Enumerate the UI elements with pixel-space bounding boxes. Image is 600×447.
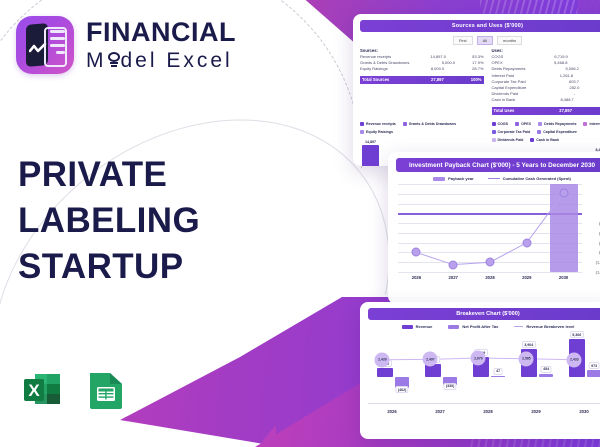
npat-value-label: 973 bbox=[589, 362, 600, 369]
microsoft-excel-icon: X bbox=[20, 368, 64, 412]
brand-lockup: FINANCIAL M del Excel bbox=[16, 16, 236, 74]
supported-apps: X bbox=[20, 368, 126, 412]
legend-cumulative-cash: Cumulative Cash Generated (Spent) bbox=[488, 176, 571, 181]
bar-group: 14,897 bbox=[362, 140, 379, 167]
legend-swatch bbox=[492, 130, 496, 134]
cover-canvas: FINANCIAL M del Excel PRIVATE LABELING S… bbox=[0, 0, 600, 447]
bar-group: 1,848(330)2,497 bbox=[416, 331, 464, 403]
legend-item: Capital Expenditure bbox=[537, 130, 577, 134]
bar bbox=[362, 145, 379, 167]
payback-x-axis: 20262027202820292030 bbox=[398, 275, 582, 280]
legend-swatch-line bbox=[488, 178, 500, 180]
npat-value-label: (330) bbox=[443, 383, 456, 390]
legend-swatch bbox=[360, 130, 364, 134]
bar-value-label: 8,489 bbox=[596, 148, 600, 152]
legend-label-payback-year: Payback year bbox=[448, 176, 474, 181]
legend-swatch bbox=[403, 122, 407, 126]
legend-label: Equity Raisings bbox=[366, 130, 393, 134]
legend-label: Capital Expenditure bbox=[543, 130, 577, 134]
table-row: Cash in Bank8,488.730.1% bbox=[492, 97, 600, 103]
revenue-value-label: 3,904 bbox=[522, 341, 536, 348]
breakeven-chart-title: Breakeven Chart ($'000) bbox=[368, 308, 600, 320]
financial-model-app-icon bbox=[16, 16, 74, 74]
npat-bar bbox=[491, 376, 505, 378]
sources-rows: Revenue receipts14,897.053.3%Grants & De… bbox=[360, 54, 484, 73]
legend-label: COGS bbox=[498, 122, 509, 126]
row-value: 8,000.0 bbox=[402, 66, 444, 72]
legend-swatch bbox=[530, 138, 534, 142]
tab-all[interactable]: All bbox=[477, 36, 493, 45]
legend-label: OPEX bbox=[521, 122, 531, 126]
x-axis-tick-label: 2029 bbox=[508, 275, 545, 280]
x-axis-tick-label: 2027 bbox=[435, 275, 472, 280]
brand-name-secondary: M del Excel bbox=[86, 50, 236, 71]
npat-value-label: (462) bbox=[395, 386, 408, 393]
legend-item: Interest Paid bbox=[583, 122, 600, 126]
npat-bar bbox=[587, 370, 600, 377]
row-percent: 28.7% bbox=[459, 66, 484, 72]
legend-swatch bbox=[537, 130, 541, 134]
breakeven-axis-line bbox=[368, 403, 600, 404]
legend-label-revenue: Revenue bbox=[416, 324, 433, 329]
sources-total-pct: 100% bbox=[458, 77, 482, 82]
page-title: PRIVATE LABELING STARTUP bbox=[18, 152, 200, 291]
breakeven-bubble: 2,433 bbox=[567, 352, 582, 367]
payback-plot-area: 600400200-(200)(400)(600)(800)(1,000)(1,… bbox=[398, 184, 582, 272]
legend-breakeven-level: Revenue Breakeven level bbox=[514, 324, 574, 329]
breakeven-plot-area: 1,240(462)2,4391,848(330)2,4972,819472,6… bbox=[368, 331, 600, 403]
legend-label: Revenue receipts bbox=[366, 122, 396, 126]
breakeven-bubble: 2,585 bbox=[519, 351, 534, 366]
legend-label: Interest Paid bbox=[589, 122, 600, 126]
legend-swatch bbox=[583, 122, 587, 126]
x-axis-tick-label: 2028 bbox=[464, 409, 512, 414]
legend-label: Debts Repayments bbox=[544, 122, 576, 126]
npat-value-label: 47 bbox=[494, 368, 503, 375]
y-axis-tick-label: - bbox=[584, 211, 600, 216]
sources-uses-columns: Sources: Revenue receipts14,897.053.3%Gr… bbox=[360, 48, 600, 115]
bar-value-label: 14,897 bbox=[365, 140, 376, 144]
brand-sub-prefix: M bbox=[86, 50, 107, 71]
x-axis-tick-label: 2030 bbox=[545, 275, 582, 280]
breakeven-x-axis: 20262027202820292030 bbox=[368, 409, 600, 414]
uses-rows: COGS6,719.924.1%OPEX5,468.819.6%Debts Re… bbox=[492, 54, 600, 104]
investment-payback-panel[interactable]: Investment Payback Chart ($'000) - 5 Yea… bbox=[388, 152, 600, 304]
lightbulb-o-icon bbox=[107, 52, 121, 70]
legend-item: Equity Raisings bbox=[360, 130, 393, 134]
table-row: Equity Raisings8,000.028.7% bbox=[360, 66, 484, 72]
breakeven-bubble: 2,439 bbox=[375, 352, 390, 367]
y-axis-tick-label: 400 bbox=[584, 191, 600, 196]
sources-chart-legend: Revenue receiptsGrants & Debts Drawdowns… bbox=[360, 122, 484, 134]
breakeven-legend: Revenue Net Profit After Tax Revenue Bre… bbox=[368, 324, 600, 329]
legend-label: Corporate Tax Paid bbox=[498, 130, 531, 134]
legend-item: Revenue receipts bbox=[360, 122, 396, 126]
sheets-svg bbox=[86, 368, 126, 412]
row-percent: 30.1% bbox=[590, 97, 600, 103]
uses-total-pct: 100% bbox=[589, 108, 600, 113]
y-axis-tick-label: (400) bbox=[584, 230, 600, 235]
excel-svg: X bbox=[20, 368, 64, 412]
legend-item: Cash in Bank bbox=[530, 138, 559, 142]
legend-npat: Net Profit After Tax bbox=[448, 324, 498, 329]
row-label: Cash in Bank bbox=[492, 97, 516, 103]
y-axis-tick-label: 200 bbox=[584, 201, 600, 206]
row-label: Equity Raisings bbox=[360, 66, 388, 72]
legend-swatch bbox=[492, 138, 496, 142]
data-point bbox=[486, 258, 495, 267]
legend-swatch bbox=[538, 122, 542, 126]
legend-item: Dividends Paid bbox=[492, 138, 524, 142]
legend-swatch-band bbox=[433, 177, 445, 181]
sources-total-value: 27,897 bbox=[403, 77, 444, 82]
revenue-bar bbox=[377, 368, 393, 377]
row-value: 8,488.7 bbox=[532, 97, 574, 103]
breakeven-bubble: 2,497 bbox=[423, 352, 438, 367]
gridline bbox=[398, 272, 582, 273]
legend-label: Cash in Bank bbox=[536, 138, 559, 142]
brand-name-primary: FINANCIAL bbox=[86, 19, 236, 46]
bar-group: 5,3669732,433 bbox=[560, 331, 600, 403]
bar-group: 2,819472,676 bbox=[464, 331, 512, 403]
svg-text:X: X bbox=[28, 381, 40, 400]
small-triangle-accent bbox=[262, 425, 276, 441]
logo-text-lines-icon bbox=[50, 30, 65, 54]
bar-group: 3,9044542,585 bbox=[512, 331, 560, 403]
y-axis-tick-label: (1,000) bbox=[584, 260, 600, 265]
legend-swatch-npat bbox=[448, 325, 459, 329]
tab-months[interactable]: months bbox=[497, 36, 522, 45]
breakeven-bubble: 2,676 bbox=[471, 351, 486, 366]
legend-swatch bbox=[360, 122, 364, 126]
y-axis-tick-label: (1,200) bbox=[584, 270, 600, 275]
tab-first[interactable]: First bbox=[453, 36, 473, 45]
legend-revenue: Revenue bbox=[402, 324, 433, 329]
sources-uses-title: Sources and Uses ($'000) bbox=[360, 20, 600, 32]
y-axis-tick-label: (200) bbox=[584, 221, 600, 226]
legend-swatch-revenue bbox=[402, 325, 413, 329]
legend-item: Debts Repayments bbox=[538, 122, 576, 126]
sources-and-uses-panel[interactable]: Sources and Uses ($'000) First All month… bbox=[353, 14, 600, 166]
legend-swatch bbox=[492, 122, 496, 126]
y-axis-tick-label: (800) bbox=[584, 250, 600, 255]
sources-total-row: Total Sources 27,897 100% bbox=[360, 76, 484, 84]
legend-item: Corporate Tax Paid bbox=[492, 130, 531, 134]
uses-total-row: Total Uses 27,897 100% bbox=[492, 107, 600, 115]
legend-label: Grants & Debts Drawdowns bbox=[409, 122, 456, 126]
data-point bbox=[412, 248, 421, 257]
x-axis-tick-label: 2029 bbox=[512, 409, 560, 414]
x-axis-tick-label: 2026 bbox=[368, 409, 416, 414]
uses-total-label: Total Uses bbox=[494, 108, 515, 113]
revenue-value-label: 5,366 bbox=[570, 331, 584, 338]
legend-label: Dividends Paid bbox=[498, 138, 524, 142]
breakeven-panel[interactable]: Breakeven Chart ($'000) Revenue Net Prof… bbox=[360, 302, 600, 439]
sources-column: Sources: Revenue receipts14,897.053.3%Gr… bbox=[360, 48, 484, 115]
brand-text: FINANCIAL M del Excel bbox=[86, 19, 236, 71]
legend-label-cumulative-cash: Cumulative Cash Generated (Spent) bbox=[503, 176, 571, 181]
legend-swatch bbox=[515, 122, 519, 126]
legend-item: Grants & Debts Drawdowns bbox=[403, 122, 456, 126]
x-axis-tick-label: 2026 bbox=[398, 275, 435, 280]
brand-sub-suffix: del Excel bbox=[121, 50, 233, 71]
x-axis-tick-label: 2028 bbox=[472, 275, 509, 280]
uses-total-value: 27,897 bbox=[531, 108, 572, 113]
google-sheets-icon bbox=[86, 368, 126, 412]
uses-header: Uses: bbox=[492, 48, 600, 53]
data-point bbox=[559, 188, 568, 197]
legend-item: OPEX bbox=[515, 122, 531, 126]
npat-value-label: 454 bbox=[541, 366, 552, 373]
uses-chart-legend: COGSOPEXDebts RepaymentsInterest PaidCor… bbox=[492, 122, 600, 142]
bar-group: 1,240(462)2,439 bbox=[368, 331, 416, 403]
legend-label-npat: Net Profit After Tax bbox=[462, 324, 498, 329]
legend-payback-year: Payback year bbox=[433, 176, 474, 181]
payback-chart-title: Investment Payback Chart ($'000) - 5 Yea… bbox=[396, 158, 600, 172]
y-axis-tick-label: 600 bbox=[584, 182, 600, 187]
period-selector[interactable]: First All months bbox=[360, 36, 600, 45]
x-axis-tick-label: 2027 bbox=[416, 409, 464, 414]
sources-header: Sources: bbox=[360, 48, 484, 53]
data-point bbox=[449, 260, 458, 269]
x-axis-tick-label: 2030 bbox=[560, 409, 600, 414]
y-axis-tick-label: (600) bbox=[584, 240, 600, 245]
legend-swatch-breakeven bbox=[514, 326, 523, 328]
sources-total-label: Total Sources bbox=[362, 77, 389, 82]
uses-column: Uses: COGS6,719.924.1%OPEX5,468.819.6%De… bbox=[492, 48, 600, 115]
npat-bar bbox=[539, 374, 553, 377]
payback-legend: Payback year Cumulative Cash Generated (… bbox=[396, 176, 600, 181]
data-point bbox=[522, 238, 531, 247]
legend-label-breakeven: Revenue Breakeven level bbox=[526, 324, 574, 329]
legend-item: COGS bbox=[492, 122, 509, 126]
